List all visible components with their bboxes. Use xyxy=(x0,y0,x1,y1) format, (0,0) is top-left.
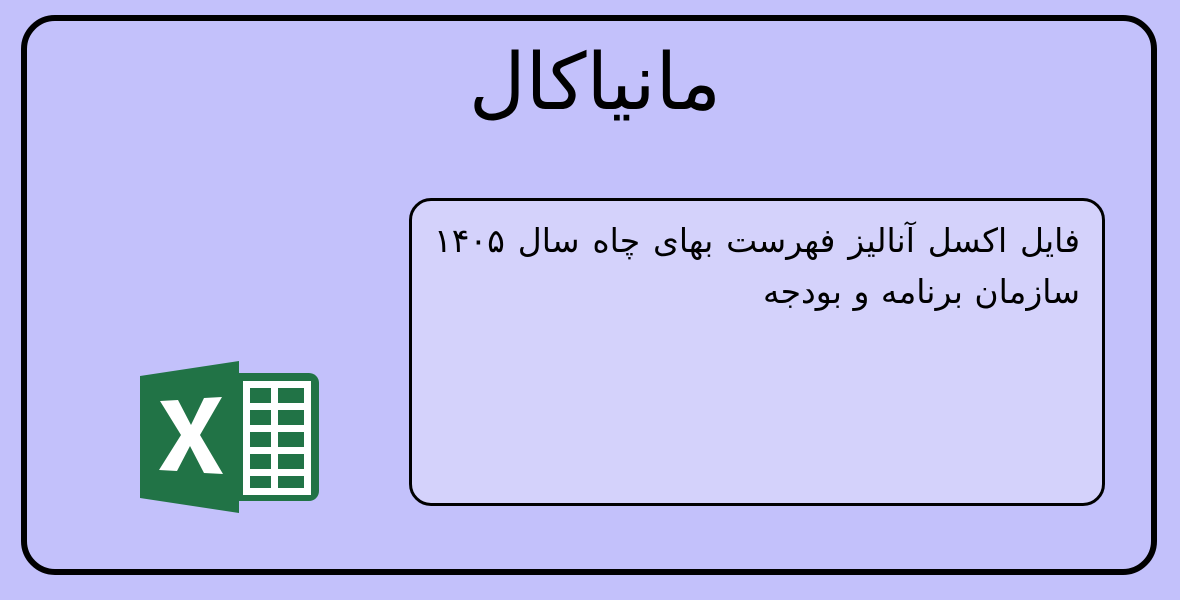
excel-file-icon-graphic xyxy=(117,343,327,543)
description-card: فایل اکسل آنالیز فهرست بهای چاه سال ۱۴۰۵… xyxy=(409,198,1105,506)
excel-file-icon[interactable] xyxy=(117,343,327,543)
outer-frame: مانیاکال فایل اکسل آنالیز فهرست بهای چاه… xyxy=(21,15,1157,575)
page-title: مانیاکال xyxy=(27,43,1163,125)
screenshot-canvas: مانیاکال فایل اکسل آنالیز فهرست بهای چاه… xyxy=(0,0,1180,600)
description-text: فایل اکسل آنالیز فهرست بهای چاه سال ۱۴۰۵… xyxy=(434,215,1080,317)
